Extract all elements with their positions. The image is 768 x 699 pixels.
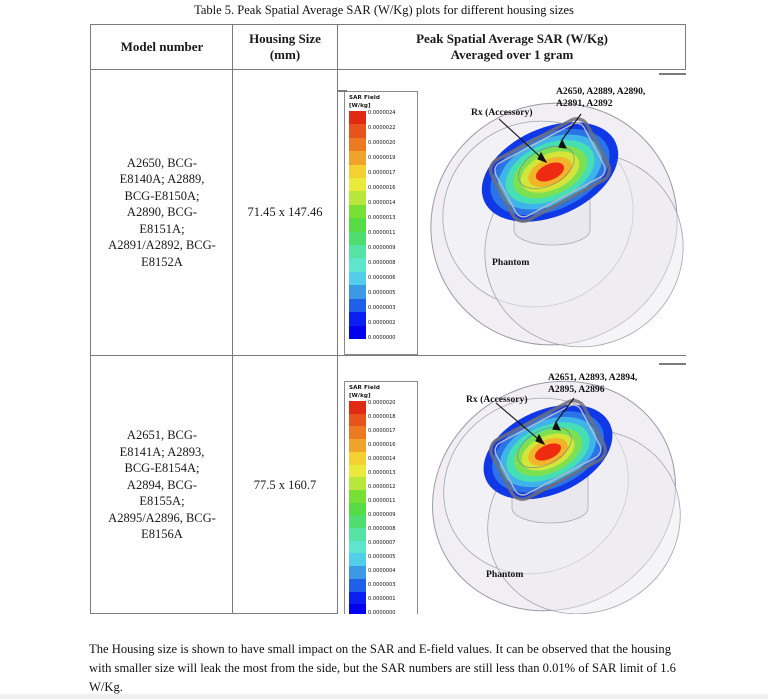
colorbar-legend-2: SAR Field [W/kg] 0.00 <box>344 381 418 614</box>
explanatory-paragraph: The Housing size is shown to have small … <box>89 640 689 697</box>
document-page: Table 5. Peak Spatial Average SAR (W/Kg)… <box>0 0 768 699</box>
colorbar-gradient-2 <box>349 401 366 614</box>
figure-edge-stub-2 <box>338 90 347 92</box>
header-peak-sar: Peak Spatial Average SAR (W/Kg) Averaged… <box>338 25 686 69</box>
page-bottom-edge <box>0 694 768 699</box>
phantom-3d-render-1 <box>426 74 686 354</box>
colorbar-gradient-1 <box>349 111 366 339</box>
cell-model-number-1: A2650, BCG-E8140A; A2889, BCG-E8150A; A2… <box>106 155 218 271</box>
header-housing-size-line1: Housing Size <box>249 31 321 47</box>
phantom-3d-render-2 <box>426 358 686 614</box>
rx-accessory-label-2: Rx (Accessory) <box>466 394 528 406</box>
colorbar-title-line1: SAR Field <box>349 95 414 103</box>
header-peak-sar-line2: Averaged over 1 gram <box>416 47 608 63</box>
table-row: A2650, BCG-E8140A; A2889, BCG-E8150A; A2… <box>92 70 232 355</box>
phantom-label-1: Phantom <box>492 257 529 269</box>
colorbar-title-line1: SAR Field <box>349 385 414 393</box>
rx-accessory-label-1: Rx (Accessory) <box>471 107 533 119</box>
cell-housing-size-1: 71.45 x 147.46 <box>233 70 337 355</box>
sar-plot-row-1: SAR Field [W/kg] 0.00 <box>338 70 686 355</box>
table-caption: Table 5. Peak Spatial Average SAR (W/Kg)… <box>0 2 768 18</box>
colorbar-ticklabels-2: 0.0000020 0.0000018 0.0000017 0.0000016 … <box>368 401 414 614</box>
cell-model-number-2: A2651, BCG-E8141A; A2893, BCG-E8154A; A2… <box>106 427 218 543</box>
colorbar-title-line2: [W/kg] <box>349 103 414 111</box>
device-model-label-2: A2651, A2893, A2894, A2895, A2896 <box>548 372 640 395</box>
phantom-label-2: Phantom <box>486 569 523 581</box>
colorbar-legend-1: SAR Field [W/kg] 0.00 <box>344 91 418 355</box>
header-housing-size: Housing Size (mm) <box>233 25 337 69</box>
table-row: A2651, BCG-E8141A; A2893, BCG-E8154A; A2… <box>92 356 232 614</box>
sar-plot-row-2: SAR Field [W/kg] 0.00 <box>338 356 686 614</box>
device-model-label-1: A2650, A2889, A2890, A2891, A2892 <box>556 86 648 109</box>
figure-edge-stub-1 <box>659 73 686 75</box>
header-model-number: Model number <box>92 25 232 69</box>
colorbar-title-line2: [W/kg] <box>349 393 414 401</box>
figure-edge-stub-3 <box>659 363 686 365</box>
colorbar-ticklabels-1: 0.0000024 0.0000022 0.0000020 0.0000019 … <box>368 111 414 339</box>
header-peak-sar-line1: Peak Spatial Average SAR (W/Kg) <box>416 31 608 47</box>
header-housing-size-line2: (mm) <box>249 47 321 63</box>
cell-housing-size-2: 77.5 x 160.7 <box>233 356 337 614</box>
sar-table: Model number Housing Size (mm) Peak Spat… <box>90 24 686 614</box>
